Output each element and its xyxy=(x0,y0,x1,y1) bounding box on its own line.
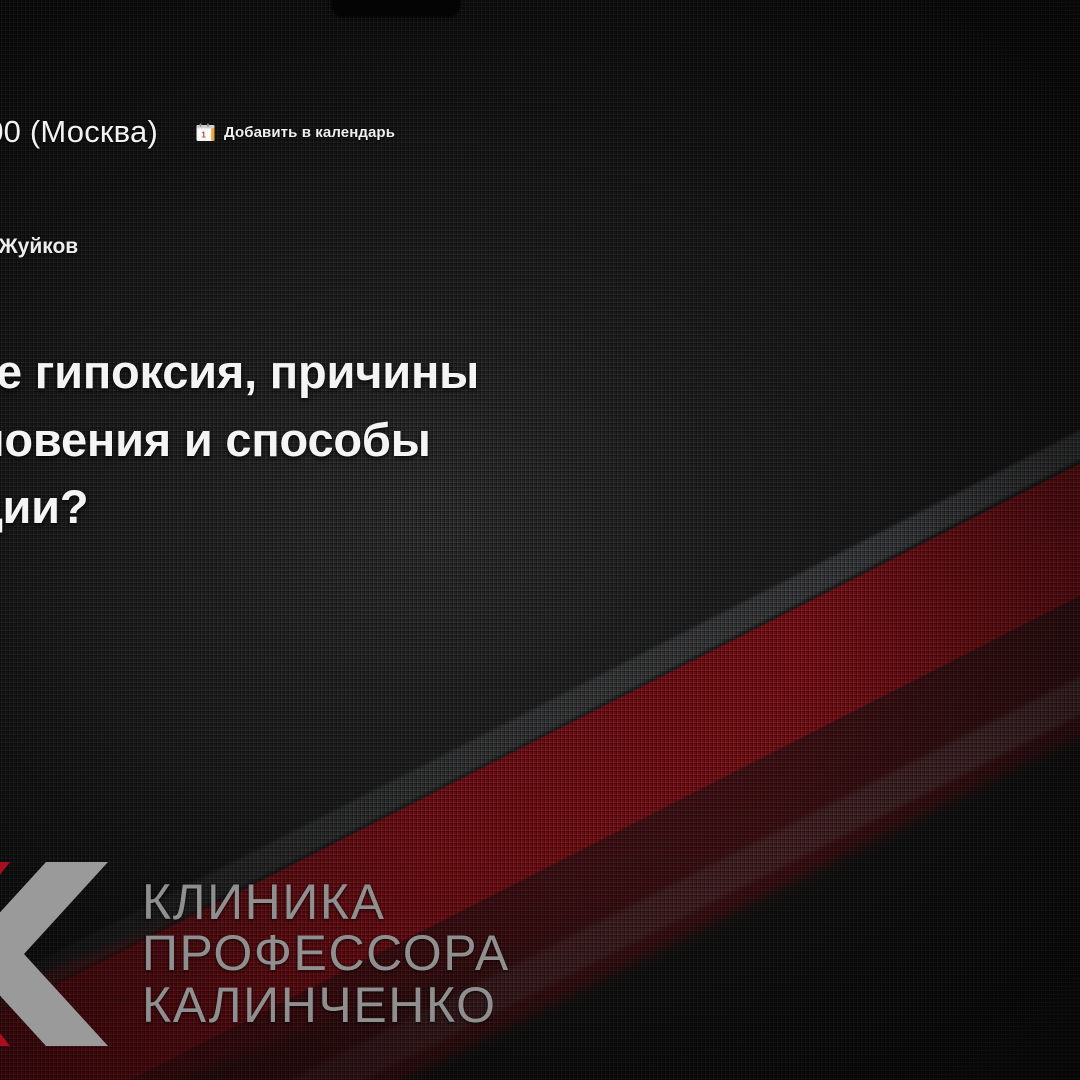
svg-text:1: 1 xyxy=(201,129,206,139)
page-title-line-3: рекции? xyxy=(0,473,876,541)
speaker-last-name: Жуйков xyxy=(0,235,78,258)
top-notch-bar xyxy=(332,0,460,16)
chevron-logo-mark-icon xyxy=(0,856,122,1052)
brand-name: КЛИНИКА ПРОФЕССОРА КАЛИНЧЕНКО xyxy=(142,877,510,1032)
page-title-line-1: такое гипоксия, причины xyxy=(0,338,876,406)
page-title-line-2: никновения и способы xyxy=(0,406,876,474)
event-datetime: еля 18:00 (Москва) xyxy=(0,114,158,150)
schedule-row: еля 18:00 (Москва) 1 Добавить в календар… xyxy=(0,114,395,150)
add-to-calendar-link[interactable]: 1 Добавить в календарь xyxy=(196,123,395,142)
brand-name-line-1: КЛИНИКА xyxy=(142,877,510,929)
brand-name-line-3: КАЛИНЧЕНКО xyxy=(142,980,510,1032)
page-content: еля 18:00 (Москва) 1 Добавить в календар… xyxy=(0,0,1080,1080)
page-canvas: еля 18:00 (Москва) 1 Добавить в календар… xyxy=(0,0,1080,1080)
brand-name-line-2: ПРОФЕССОРА xyxy=(142,928,510,980)
speaker-name: ександр Жуйков xyxy=(0,235,78,259)
calendar-icon: 1 xyxy=(196,123,215,142)
add-to-calendar-label: Добавить в календарь xyxy=(224,124,395,141)
page-title: такое гипоксия, причины никновения и спо… xyxy=(0,338,876,541)
brand-logo: КЛИНИКА ПРОФЕССОРА КАЛИНЧЕНКО xyxy=(0,856,510,1052)
